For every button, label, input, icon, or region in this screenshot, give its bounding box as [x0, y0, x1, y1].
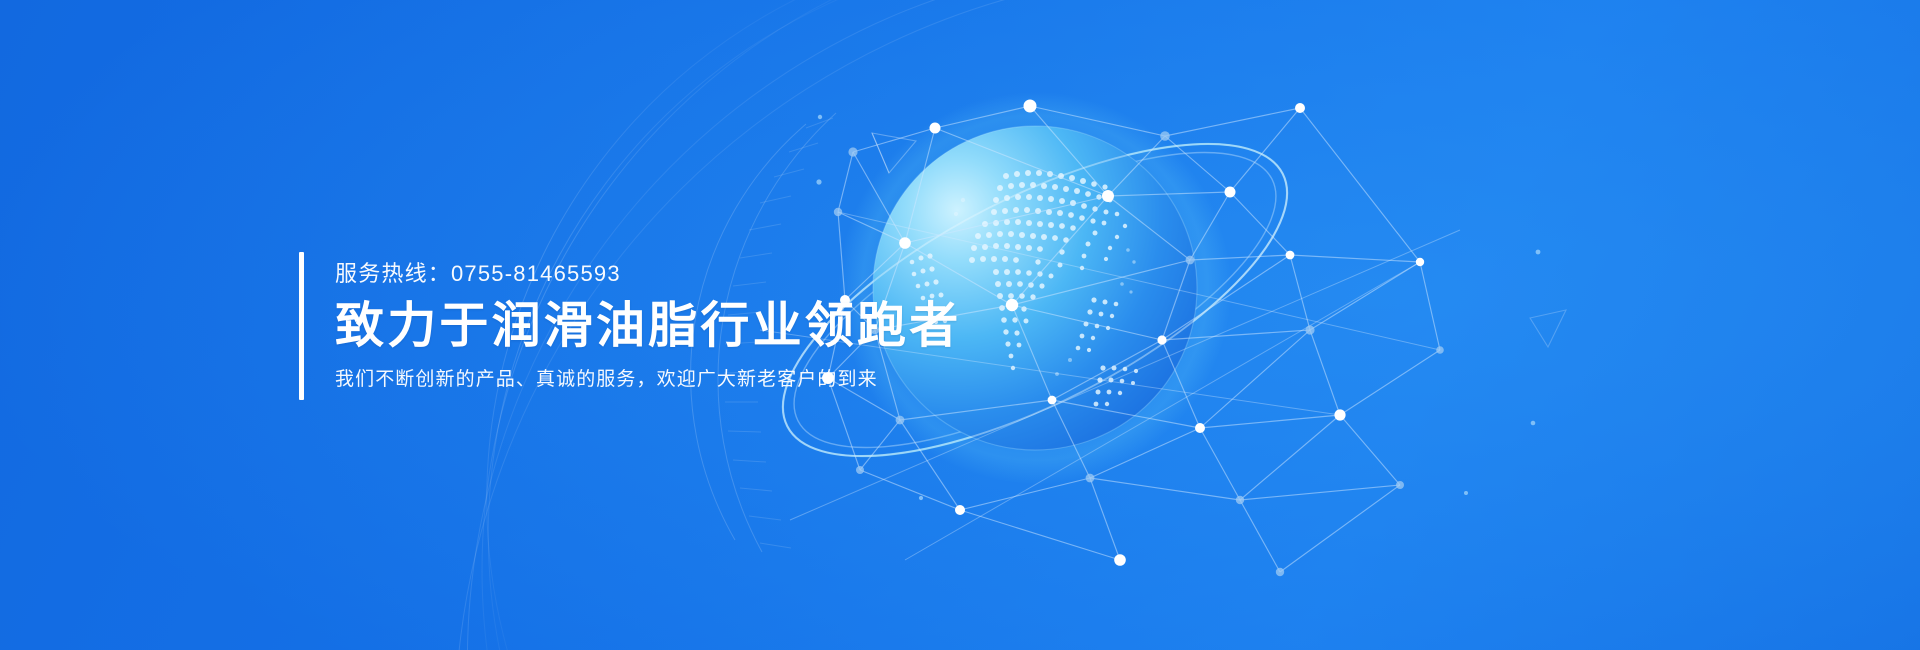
hero-text-column: 服务热线：0755-81465593 致力于润滑油脂行业领跑者 我们不断创新的产…	[304, 252, 961, 400]
hero-text-block: 服务热线：0755-81465593 致力于润滑油脂行业领跑者 我们不断创新的产…	[299, 252, 961, 400]
hero-headline: 致力于润滑油脂行业领跑者	[335, 302, 961, 352]
service-hotline: 服务热线：0755-81465593	[335, 263, 961, 285]
hero-subheadline: 我们不断创新的产品、真诚的服务，欢迎广大新老客户的到来	[335, 370, 961, 389]
hero-banner: 服务热线：0755-81465593 致力于润滑油脂行业领跑者 我们不断创新的产…	[0, 0, 1920, 650]
